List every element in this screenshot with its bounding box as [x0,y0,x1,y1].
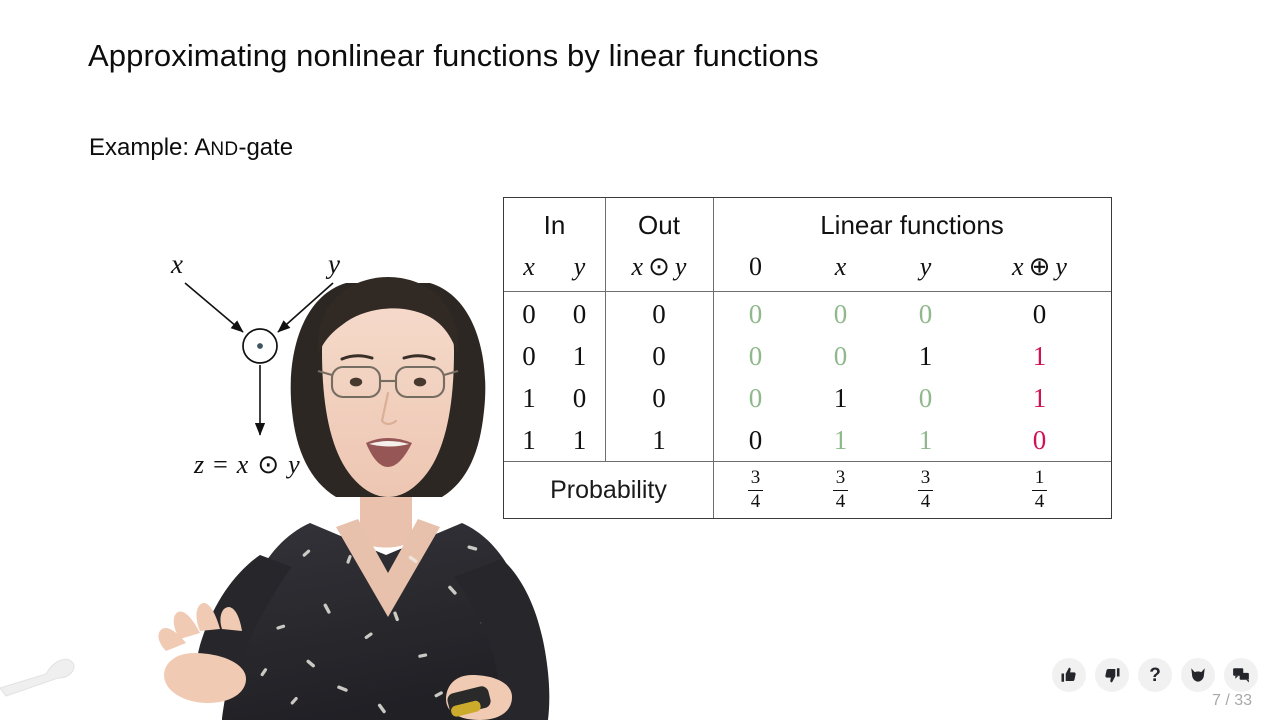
slide-subtitle: Example: AND-gate [89,134,293,162]
diagram-input-x-label: x [170,249,183,279]
cell-lf-y: 0 [883,293,968,335]
cell-lf-xor: 0 [968,419,1111,461]
thumbs-down-button[interactable] [1095,658,1129,692]
xor-expr-x: x [1012,252,1024,282]
odot-icon: ⊙ [648,252,670,282]
oplus-icon: ⊕ [1029,252,1051,282]
thumbs-up-icon [1060,666,1078,684]
fraction-denominator: 4 [833,492,849,513]
probability-value-xor: 1 4 [968,463,1111,518]
cell-lf-x: 1 [798,419,883,461]
probability-value-y: 3 4 [883,463,968,518]
out-expr-y: y [675,252,687,282]
cell-lf-zero: 0 [713,419,798,461]
bookmark-button[interactable] [1181,658,1215,692]
probability-value-zero: 3 4 [713,463,798,518]
cat-bookmark-icon [1189,666,1207,684]
cell-lf-y: 1 [883,335,968,377]
table-group-header-out: Out [605,204,713,246]
slide-canvas: Approximating nonlinear functions by lin… [0,0,1280,720]
diagram-input-y-label: y [325,249,340,279]
table-subheader-in-y: y [554,244,605,290]
cell-in-y: 1 [554,335,605,377]
and-gate-diagram: x y z=x⊙y [150,235,390,495]
table-subheader-lf-xor: x ⊕ y [968,244,1111,290]
fraction: 1 4 [1032,468,1048,513]
cell-lf-xor: 1 [968,377,1111,419]
background-prop [0,640,120,700]
cell-in-x: 1 [504,377,554,419]
thumbs-up-button[interactable] [1052,658,1086,692]
comment-icon [1232,666,1250,684]
cell-out: 0 [605,377,713,419]
fraction-numerator: 3 [833,468,849,489]
table-subheader-lf-y: y [883,244,968,290]
slide-title: Approximating nonlinear functions by lin… [88,38,819,74]
subtitle-smallcaps-nd: ND [210,139,238,160]
probability-label: Probability [504,463,713,518]
fraction-numerator: 3 [748,468,764,489]
question-mark-icon: ? [1149,666,1161,685]
cell-lf-xor: 1 [968,335,1111,377]
fraction: 3 4 [748,468,764,513]
out-expr-x: x [632,252,644,282]
fraction: 3 4 [918,468,934,513]
cell-out: 0 [605,293,713,335]
fraction-numerator: 1 [1032,468,1048,489]
xor-expr-y: y [1055,252,1067,282]
table-group-header-linear-functions: Linear functions [713,204,1111,246]
table-subheader-in-x: x [504,244,554,290]
fraction-denominator: 4 [1032,492,1048,513]
truth-table: In Out Linear functions x y x ⊙ y 0 x y … [503,197,1112,519]
thumbs-down-icon [1103,666,1121,684]
fraction-denominator: 4 [918,492,934,513]
reaction-toolbar[interactable]: ? [1052,658,1258,692]
table-group-header-in: In [504,204,605,246]
cell-lf-x: 0 [798,293,883,335]
cell-in-x: 1 [504,419,554,461]
cell-lf-y: 0 [883,377,968,419]
subtitle-suffix: -gate [238,134,293,161]
table-subheader-lf-zero: 0 [713,244,798,290]
page-indicator: 7 / 33 [1212,692,1252,710]
cell-in-x: 0 [504,335,554,377]
fraction-numerator: 3 [918,468,934,489]
cell-lf-x: 0 [798,335,883,377]
diagram-output-equation: z=x⊙y [193,450,300,479]
comment-button[interactable] [1224,658,1258,692]
cell-lf-zero: 0 [713,293,798,335]
cell-lf-x: 1 [798,377,883,419]
cell-lf-y: 1 [883,419,968,461]
fraction-denominator: 4 [748,492,764,513]
question-button[interactable]: ? [1138,658,1172,692]
probability-value-x: 3 4 [798,463,883,518]
cell-lf-zero: 0 [713,335,798,377]
table-subheader-out-expr: x ⊙ y [605,244,713,290]
fraction: 3 4 [833,468,849,513]
subtitle-prefix: Example: [89,134,194,161]
cell-in-x: 0 [504,293,554,335]
cell-lf-xor: 0 [968,293,1111,335]
subtitle-smallcaps-a: A [194,134,210,161]
table-subheader-lf-x: x [798,244,883,290]
cell-out: 0 [605,335,713,377]
cell-in-y: 0 [554,293,605,335]
cell-in-y: 0 [554,377,605,419]
cell-out: 1 [605,419,713,461]
cell-lf-zero: 0 [713,377,798,419]
cell-in-y: 1 [554,419,605,461]
